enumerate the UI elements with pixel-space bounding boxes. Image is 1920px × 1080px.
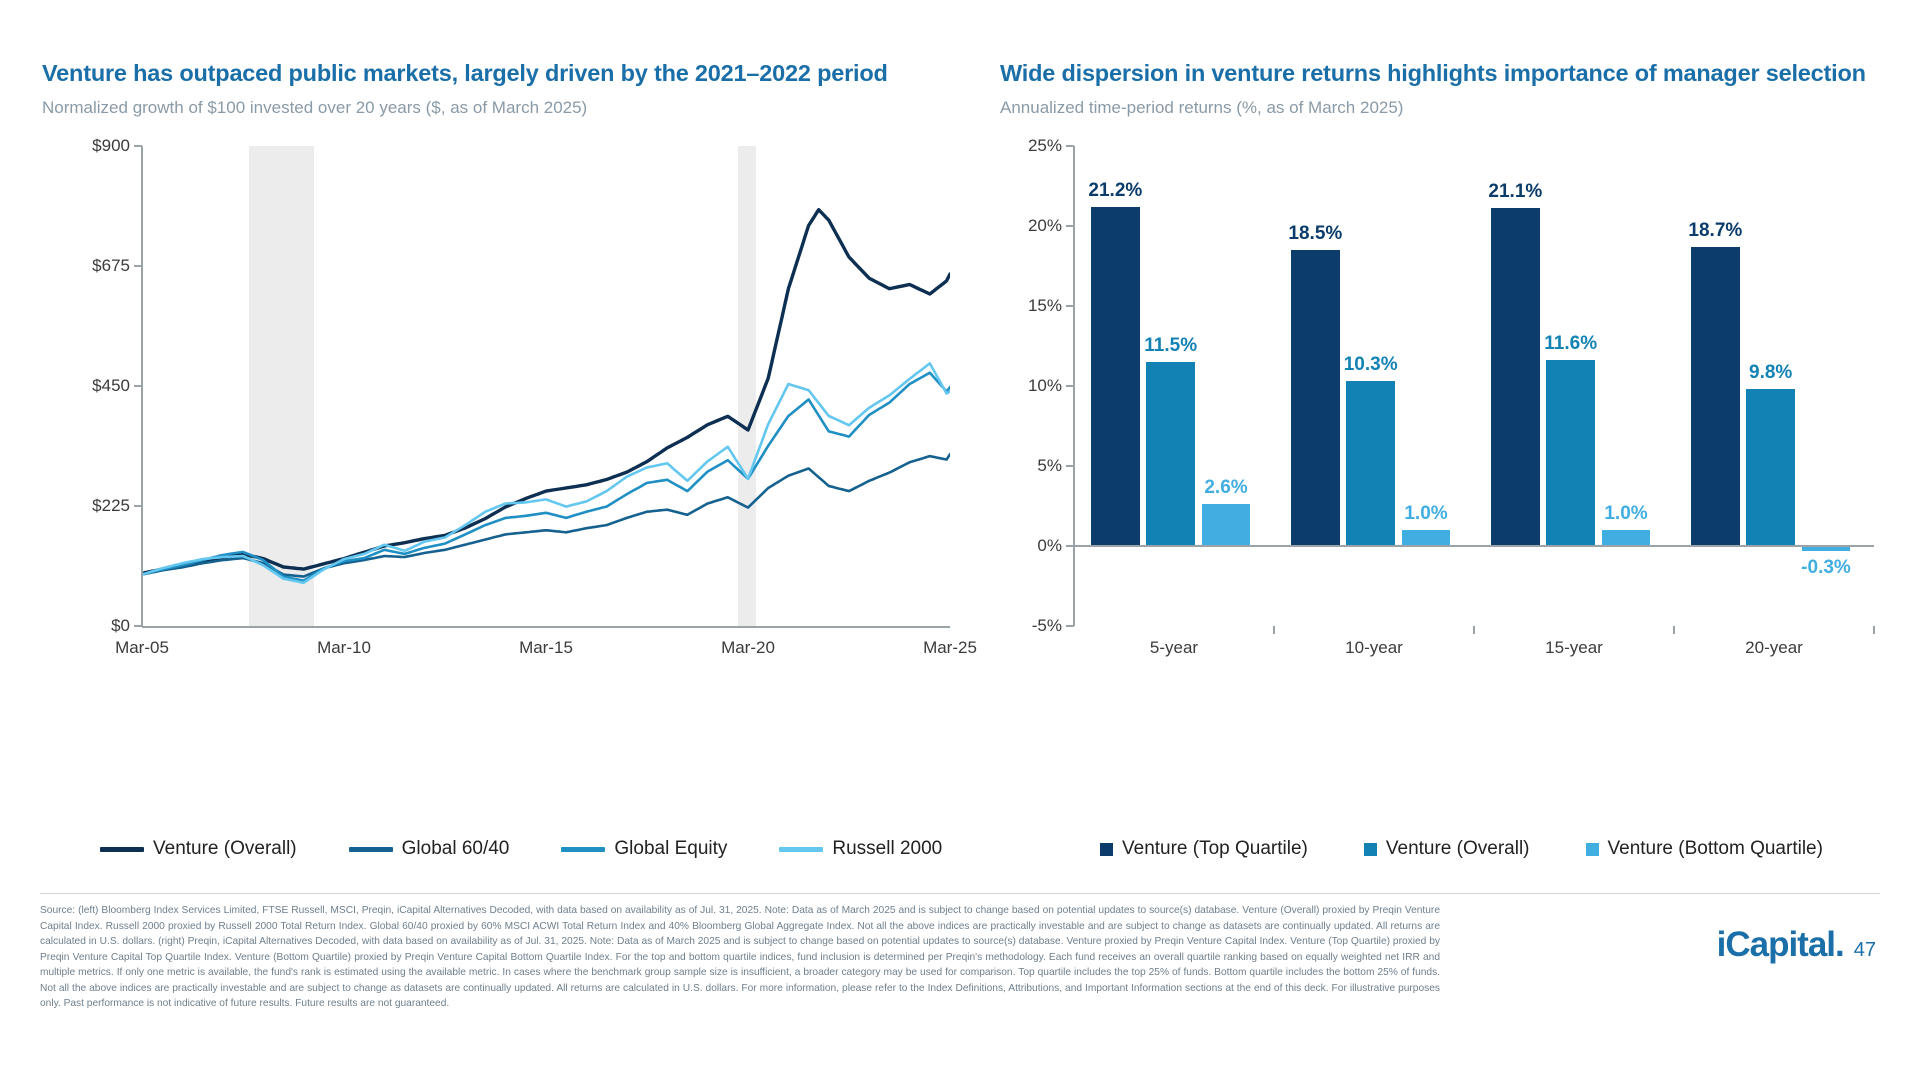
x-axis-tick-label: 15-year [1545,638,1603,658]
left-chart-subtitle: Normalized growth of $100 invested over … [42,98,962,118]
y-axis-tick-label: $900 [92,136,130,156]
legend-item[interactable]: Venture (Bottom Quartile) [1586,838,1823,860]
y-axis-tick [134,625,142,627]
zero-baseline [1074,545,1874,547]
bar-value-label: 2.6% [1204,477,1247,499]
y-axis-tick [1066,625,1074,627]
x-axis-tick-label: Mar-05 [115,638,169,658]
legend-label: Venture (Bottom Quartile) [1608,838,1823,860]
bar-value-label: 18.5% [1288,223,1342,245]
bar-value-label: 11.6% [1544,333,1597,355]
x-axis-tick-label: 5-year [1150,638,1198,658]
legend-square-swatch-icon [1100,843,1113,856]
y-axis-tick-label: 25% [1028,136,1062,156]
right-chart-panel: Wide dispersion in venture returns highl… [1000,60,1880,656]
y-axis-tick-label: 20% [1028,216,1062,236]
y-axis-tick-label: $450 [92,376,130,396]
bar[interactable] [1746,389,1795,546]
bar-chart-plot-area: 21.2%11.5%2.6%18.5%10.3%1.0%21.1%11.6%1.… [1074,146,1874,626]
bar-value-label: 10.3% [1344,354,1398,376]
x-axis-tick [1273,626,1275,634]
line-series-global-equity [142,373,950,581]
bar[interactable] [1291,250,1340,546]
y-axis-tick-label: 0% [1037,536,1062,556]
x-axis-tick-label: Mar-15 [519,638,573,658]
bar[interactable] [1146,362,1195,546]
bar[interactable] [1546,360,1595,546]
bar[interactable] [1691,247,1740,546]
legend-line-swatch-icon [561,847,605,852]
x-axis-tick [1873,626,1875,634]
bar-value-label: 11.5% [1144,335,1197,357]
bar-chart: 21.2%11.5%2.6%18.5%10.3%1.0%21.1%11.6%1.… [1000,136,1880,656]
legend-label: Global 60/40 [402,838,510,860]
legend-square-swatch-icon [1364,843,1377,856]
x-axis-tick-label: Mar-20 [721,638,775,658]
y-axis-tick [134,265,142,267]
y-axis-tick [1066,465,1074,467]
bar[interactable] [1091,207,1140,546]
y-axis-tick [1066,145,1074,147]
source-footnote: Source: (left) Bloomberg Index Services … [40,903,1440,1012]
left-chart-panel: Venture has outpaced public markets, lar… [42,60,962,656]
legend-label: Russell 2000 [832,838,942,860]
x-axis-tick-label: 20-year [1745,638,1803,658]
legend-item[interactable]: Venture (Top Quartile) [1100,838,1308,860]
line-series-russell-2000 [142,363,950,582]
legend-item[interactable]: Venture (Overall) [1364,838,1530,860]
legend-label: Venture (Top Quartile) [1122,838,1308,860]
line-chart-legend: Venture (Overall)Global 60/40Global Equi… [100,838,942,860]
bar-chart-legend: Venture (Top Quartile)Venture (Overall)V… [1100,838,1823,860]
legend-line-swatch-icon [100,847,144,852]
legend-item[interactable]: Russell 2000 [779,838,942,860]
right-plot-wrapper: 21.2%11.5%2.6%18.5%10.3%1.0%21.1%11.6%1.… [1000,136,1880,656]
legend-item[interactable]: Global 60/40 [349,838,510,860]
bar[interactable] [1202,504,1251,546]
y-axis-tick [134,145,142,147]
line-series-venture-overall [142,210,950,574]
left-plot-wrapper: $0$225$450$675$900Mar-05Mar-10Mar-15Mar-… [42,136,962,656]
x-axis-tick-label: Mar-25 [923,638,977,658]
legend-line-swatch-icon [349,847,393,852]
y-axis-tick [1066,305,1074,307]
icapital-logo: iCapital. [1717,925,1844,965]
legend-label: Venture (Overall) [153,838,297,860]
legend-label: Venture (Overall) [1386,838,1530,860]
right-chart-title: Wide dispersion in venture returns highl… [1000,60,1880,87]
bar-value-label: 21.1% [1488,181,1542,203]
bar-value-label: 21.2% [1088,180,1142,202]
y-axis-tick [1066,225,1074,227]
bar[interactable] [1346,381,1395,546]
line-series-group [142,146,950,626]
bar-value-label: 1.0% [1604,503,1647,525]
y-axis-tick-label: 10% [1028,376,1062,396]
x-axis-tick-label: Mar-10 [317,638,371,658]
bar-value-label: -0.3% [1801,557,1851,579]
footer-divider [40,893,1880,894]
legend-item[interactable]: Venture (Overall) [100,838,297,860]
bar[interactable] [1602,530,1651,546]
y-axis-tick-label: 5% [1037,456,1062,476]
right-chart-subtitle: Annualized time-period returns (%, as of… [1000,98,1880,118]
bar-value-label: 1.0% [1404,503,1447,525]
y-axis-tick-label: $675 [92,256,130,276]
legend-item[interactable]: Global Equity [561,838,727,860]
left-chart-title: Venture has outpaced public markets, lar… [42,60,962,87]
x-axis-tick [1473,626,1475,634]
brand-block: iCapital. 47 [1717,925,1876,965]
y-axis-tick [134,505,142,507]
slide-root: Venture has outpaced public markets, lar… [0,0,1920,1080]
line-chart-plot-area [142,146,950,626]
bar[interactable] [1402,530,1451,546]
y-axis-tick [1066,545,1074,547]
y-axis-tick [1066,385,1074,387]
y-axis-tick-label: 15% [1028,296,1062,316]
y-axis-tick-label: $0 [111,616,130,636]
legend-line-swatch-icon [779,847,823,852]
y-axis-tick [134,385,142,387]
bar[interactable] [1491,208,1540,546]
line-chart: $0$225$450$675$900Mar-05Mar-10Mar-15Mar-… [42,136,962,656]
legend-label: Global Equity [614,838,727,860]
y-axis-tick-label: $225 [92,496,130,516]
x-axis-tick-label: 10-year [1345,638,1403,658]
bar-value-label: 18.7% [1688,220,1742,242]
legend-square-swatch-icon [1586,843,1599,856]
y-axis-tick-label: -5% [1032,616,1062,636]
x-axis-line [142,626,950,628]
x-axis-tick [1673,626,1675,634]
bar-value-label: 9.8% [1749,362,1792,384]
page-number: 47 [1854,939,1876,962]
